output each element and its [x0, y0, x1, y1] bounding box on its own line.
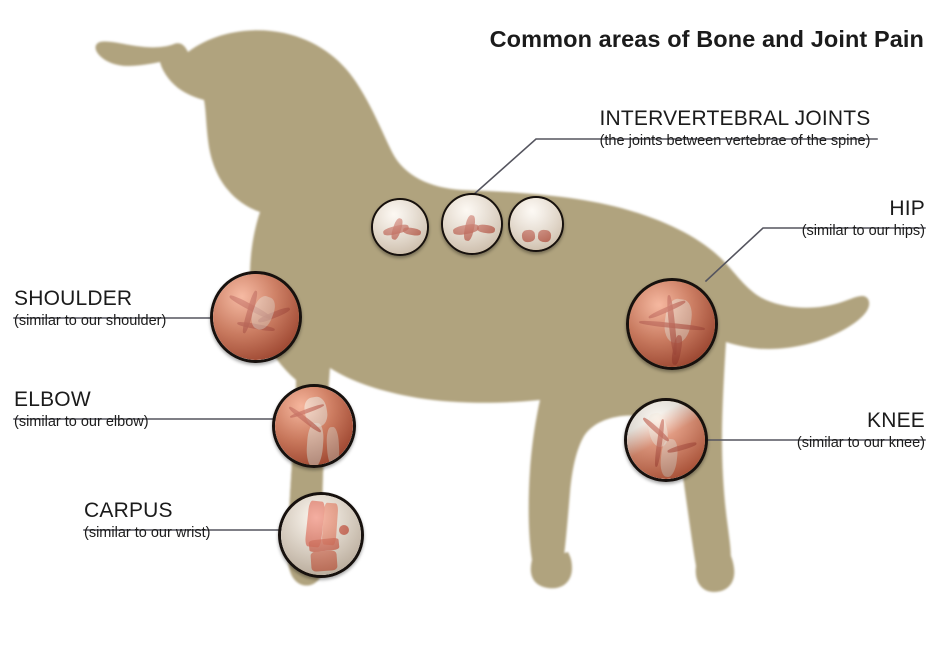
callout-shoulder-title: SHOULDER: [14, 288, 274, 310]
callout-hip-title: HIP: [625, 198, 925, 220]
callout-elbow: ELBOW (similar to our elbow): [14, 389, 274, 431]
callout-intervertebral-title: INTERVERTEBRAL JOINTS: [545, 108, 925, 130]
elbow-joint-circle: [272, 384, 356, 468]
diagram-canvas: Common areas of Bone and Joint Pain: [0, 0, 932, 659]
callout-knee-subtitle: (similar to our knee): [625, 432, 925, 452]
hip-joint-circle: [626, 278, 718, 370]
callout-intervertebral: INTERVERTEBRAL JOINTS (the joints betwee…: [545, 108, 925, 150]
callout-carpus: CARPUS (similar to our wrist): [84, 500, 344, 542]
callout-elbow-title: ELBOW: [14, 389, 274, 411]
callout-knee-title: KNEE: [625, 410, 925, 432]
callout-knee: KNEE (similar to our knee): [625, 410, 925, 452]
callout-shoulder-subtitle: (similar to our shoulder): [14, 310, 274, 330]
page-title: Common areas of Bone and Joint Pain: [490, 26, 924, 53]
callout-elbow-subtitle: (similar to our elbow): [14, 411, 274, 431]
spine-vertebra-2-circle: [441, 193, 503, 255]
callout-hip-subtitle: (similar to our hips): [625, 220, 925, 240]
callout-hip: HIP (similar to our hips): [625, 198, 925, 240]
callout-carpus-title: CARPUS: [84, 500, 344, 522]
callout-carpus-subtitle: (similar to our wrist): [84, 522, 344, 542]
callout-shoulder: SHOULDER (similar to our shoulder): [14, 288, 274, 330]
callout-intervertebral-subtitle: (the joints between vertebrae of the spi…: [545, 130, 925, 150]
spine-vertebra-3-circle: [508, 196, 564, 252]
spine-vertebra-1-circle: [371, 198, 429, 256]
